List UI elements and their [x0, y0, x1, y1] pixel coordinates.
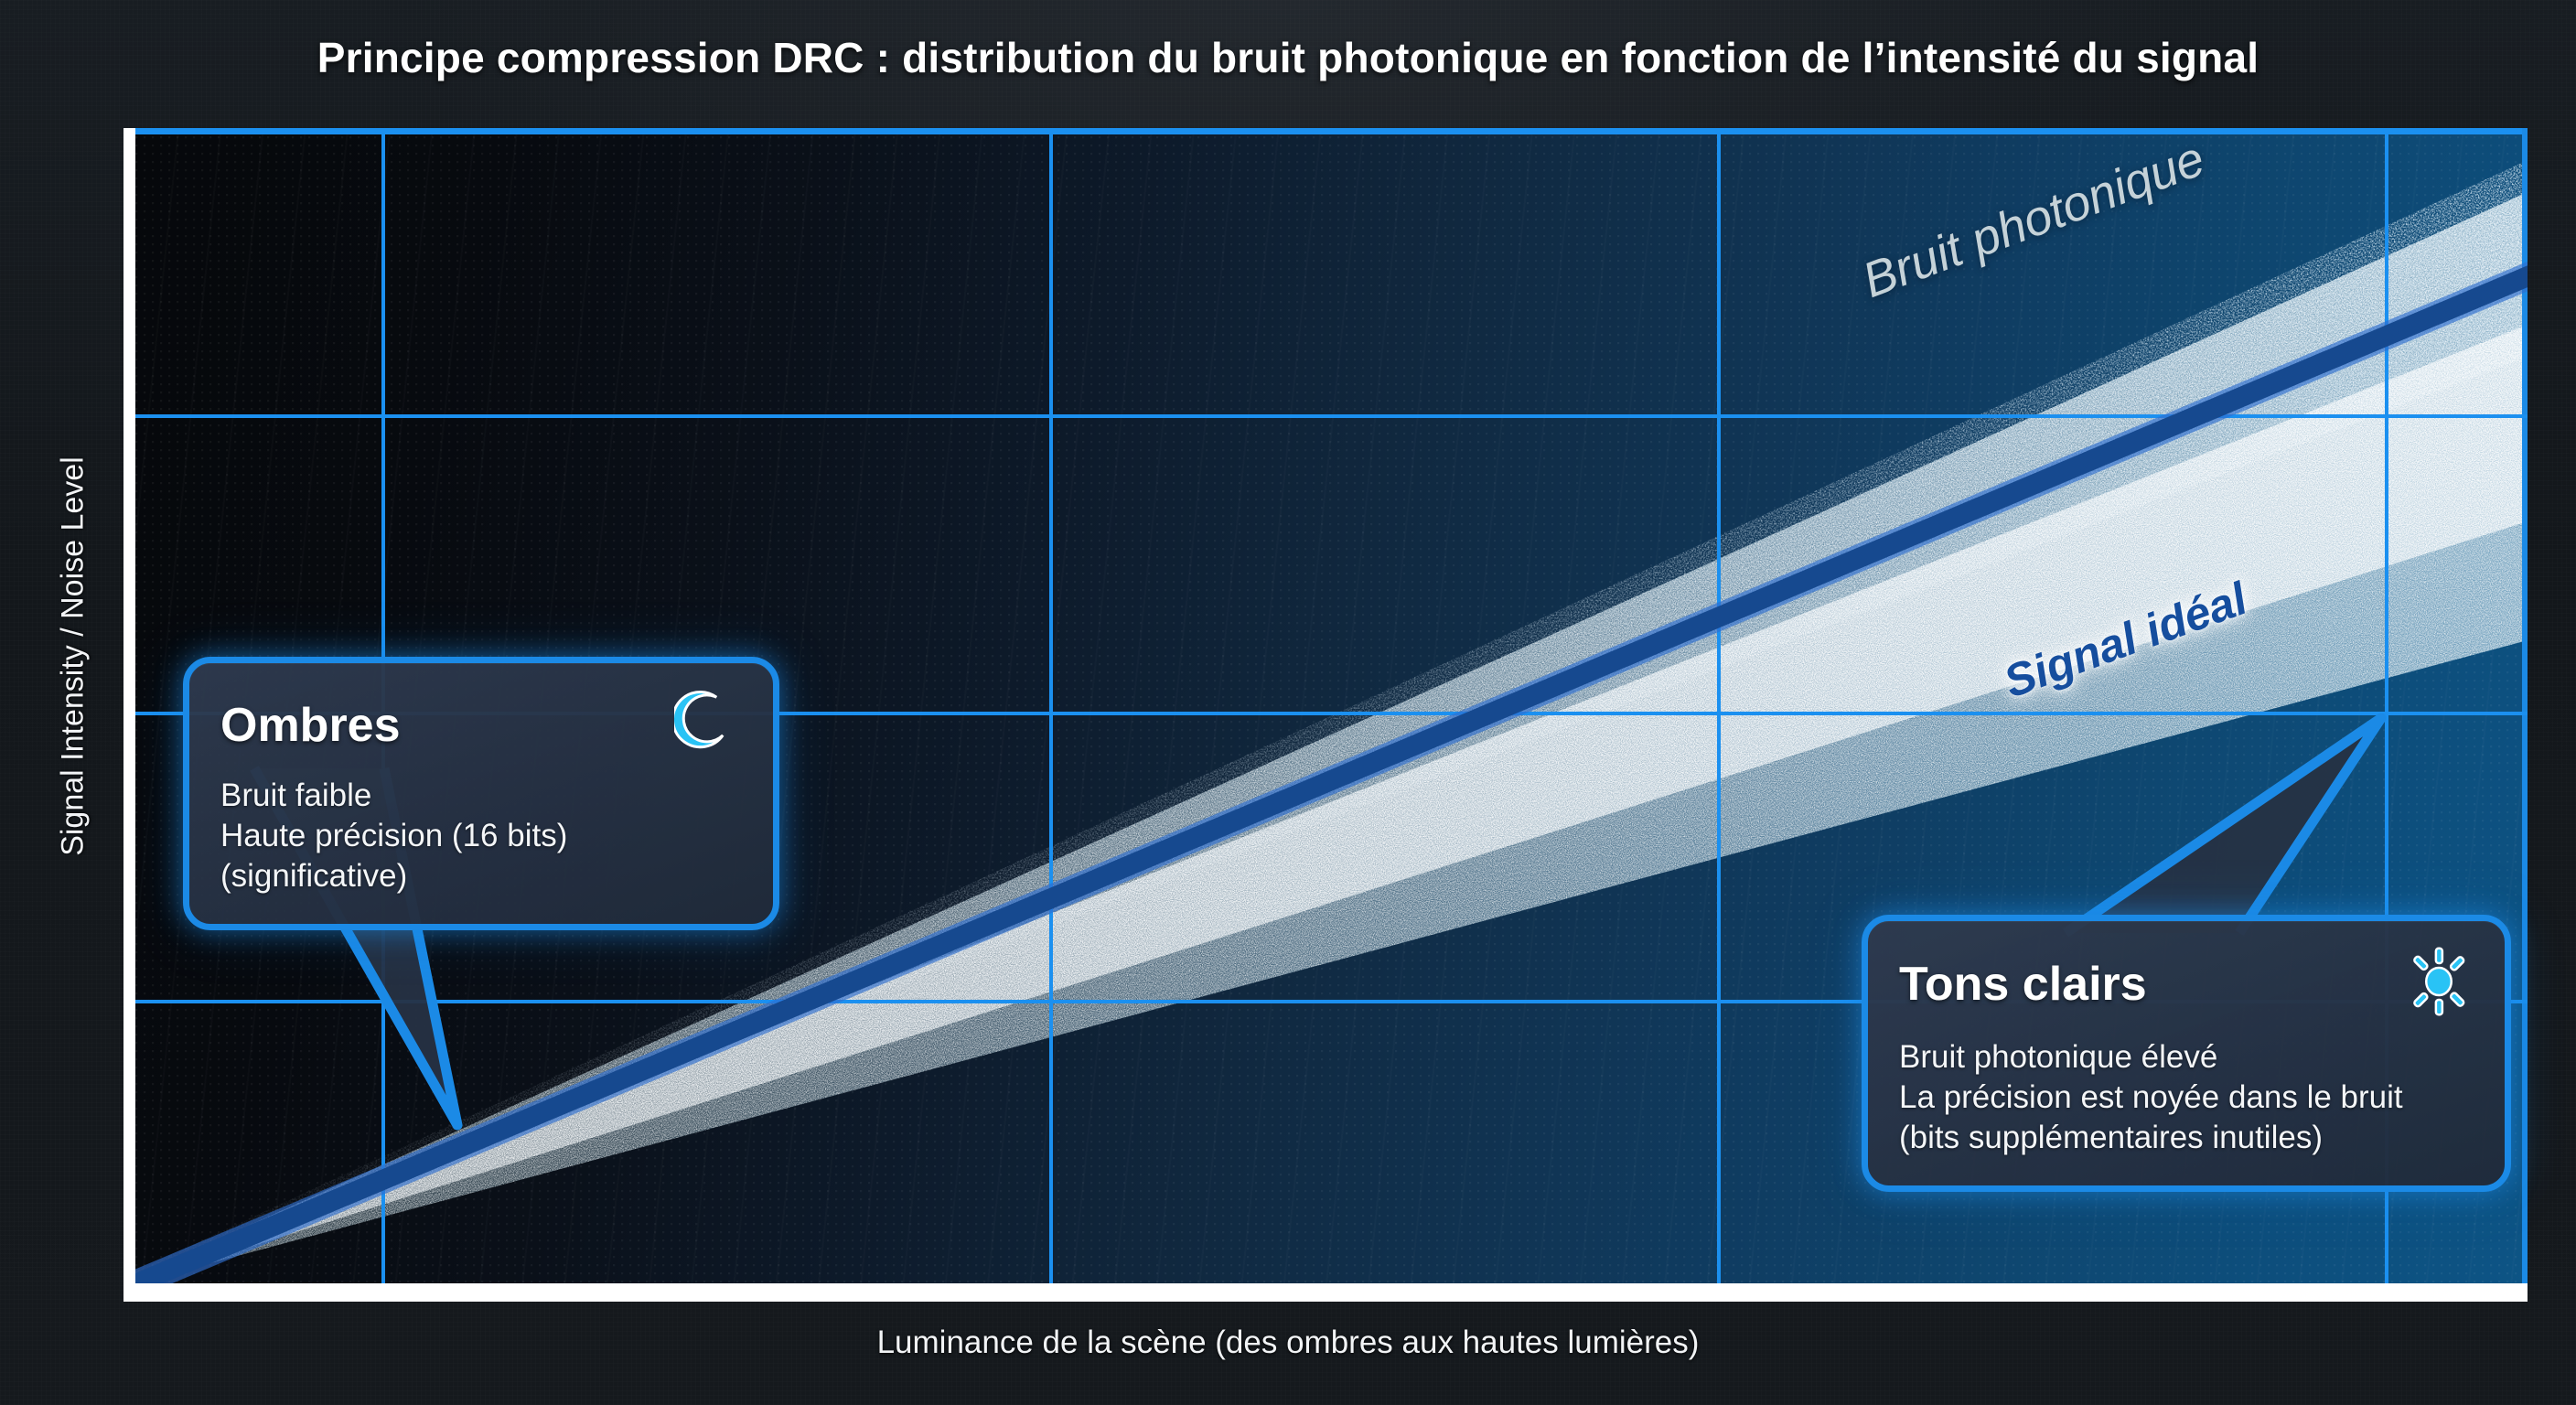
callout-tons-clairs-line-3: (bits supplémentaires inutiles)	[1899, 1118, 2475, 1158]
callout-tons-clairs-body: Bruit photonique élevé La précision est …	[1899, 1037, 2475, 1158]
x-axis-line	[123, 1282, 2528, 1302]
grid-line-right	[2522, 128, 2528, 1283]
callout-ombres-header: Ombres	[220, 689, 742, 761]
callout-tons-clairs-heading: Tons clairs	[1899, 957, 2147, 1012]
sun-icon	[2402, 945, 2475, 1023]
callout-tons-clairs-line-2: La précision est noyée dans le bruit	[1899, 1078, 2475, 1118]
page-title: Principe compression DRC : distribution …	[0, 33, 2576, 82]
callout-ombres[interactable]: Ombres Bruit faible Haute précision (16 …	[183, 657, 779, 930]
y-axis-line	[123, 128, 135, 1302]
callout-tons-clairs-line-1: Bruit photonique élevé	[1899, 1037, 2475, 1078]
callout-ombres-line-1: Bruit faible	[220, 776, 742, 816]
grid-line-horizontal-1	[135, 414, 2528, 418]
x-axis-label: Luminance de la scène (des ombres aux ha…	[0, 1325, 2576, 1361]
annotation-bruit-photonique: Bruit photonique	[1855, 130, 2212, 309]
callout-ombres-heading: Ombres	[220, 698, 401, 753]
callout-tons-clairs[interactable]: Tons clairs Bruit photonique élevé La pr…	[1862, 915, 2511, 1192]
annotation-signal-ideal: Signal idéal	[1997, 572, 2254, 709]
callout-ombres-line-2: Haute précision (16 bits)	[220, 816, 742, 856]
callout-ombres-line-3: (significative)	[220, 856, 742, 896]
y-axis-label: Signal Intensity / Noise Level	[56, 309, 91, 1004]
grid-line-top	[135, 128, 2528, 134]
callout-tons-clairs-header: Tons clairs	[1899, 945, 2475, 1023]
grid-line-vertical-3	[1717, 128, 1721, 1283]
callout-ombres-body: Bruit faible Haute précision (16 bits) (…	[220, 776, 742, 896]
grid-line-vertical-2	[1049, 128, 1053, 1283]
moon-icon	[674, 689, 742, 761]
